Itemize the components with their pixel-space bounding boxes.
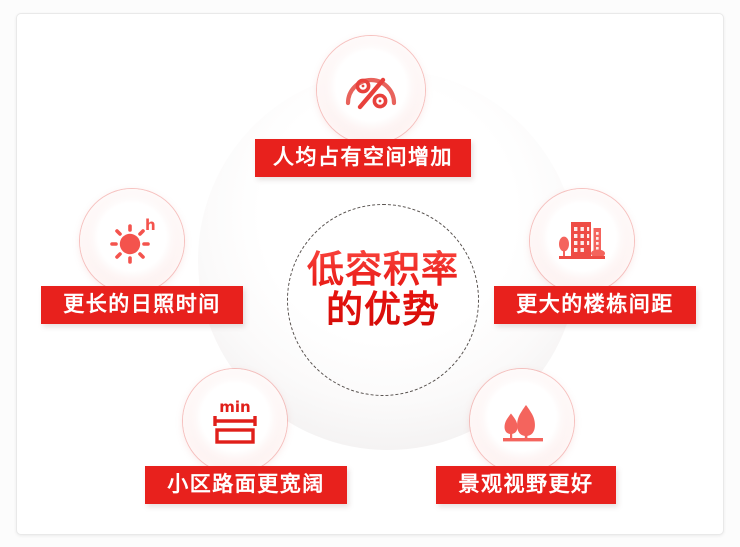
label-building-spacing[interactable]: 更大的楼栋间距 xyxy=(494,286,696,324)
label-sunlight-hours[interactable]: 更长的日照时间 xyxy=(41,286,243,324)
label-better-views[interactable]: 景观视野更好 xyxy=(436,466,616,504)
road-width-icon: min xyxy=(183,369,287,473)
infographic-canvas: 低容积率 的优势 人均占有空间增加 xyxy=(0,0,740,547)
trees-icon xyxy=(470,369,574,473)
infographic-card: 低容积率 的优势 人均占有空间增加 xyxy=(16,13,724,535)
road-width-unit: min xyxy=(219,398,250,416)
label-per-capita-space[interactable]: 人均占有空间增加 xyxy=(255,139,471,177)
bubble-sunlight-hours[interactable]: h xyxy=(80,189,184,293)
bubble-per-capita-space[interactable] xyxy=(317,36,425,144)
percent-gauge-icon xyxy=(317,36,425,144)
bubble-building-spacing[interactable] xyxy=(530,189,634,293)
sun-hours-unit: h xyxy=(145,216,156,234)
sun-hours-icon: h xyxy=(80,189,184,293)
center-title-line-2: 的优势 xyxy=(285,290,481,330)
buildings-icon xyxy=(530,189,634,293)
bubble-wider-roads[interactable]: min xyxy=(183,369,287,473)
bubble-better-views[interactable] xyxy=(470,369,574,473)
center-title: 低容积率 的优势 xyxy=(285,250,481,330)
label-wider-roads[interactable]: 小区路面更宽阔 xyxy=(145,466,347,504)
center-title-line-1: 低容积率 xyxy=(285,250,481,290)
